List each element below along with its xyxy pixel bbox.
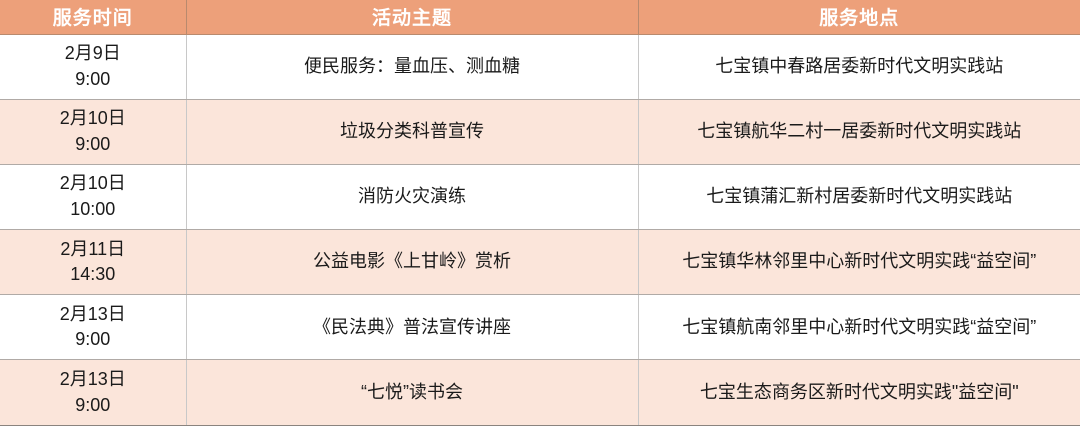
cell-service-time: 2月13日 9:00: [0, 295, 186, 360]
table-row: 2月10日 9:00 垃圾分类科普宣传 七宝镇航华二村一居委新时代文明实践站: [0, 99, 1080, 164]
column-header-service-location: 服务地点: [638, 0, 1080, 34]
column-header-service-time: 服务时间: [0, 0, 186, 34]
table-row: 2月10日 10:00 消防火灾演练 七宝镇蒲汇新村居委新时代文明实践站: [0, 164, 1080, 229]
service-date: 2月13日: [6, 367, 180, 393]
table-row: 2月13日 9:00 《民法典》普法宣传讲座 七宝镇航南邻里中心新时代文明实践“…: [0, 295, 1080, 360]
table-row: 2月11日 14:30 公益电影《上甘岭》赏析 七宝镇华林邻里中心新时代文明实践…: [0, 230, 1080, 295]
cell-service-time: 2月13日 9:00: [0, 360, 186, 425]
cell-service-time: 2月9日 9:00: [0, 34, 186, 99]
service-time: 9:00: [6, 327, 180, 353]
table-body: 2月9日 9:00 便民服务：量血压、测血糖 七宝镇中春路居委新时代文明实践站 …: [0, 34, 1080, 425]
cell-service-location: 七宝镇航华二村一居委新时代文明实践站: [638, 99, 1080, 164]
service-date: 2月13日: [6, 302, 180, 328]
cell-activity-theme: “七悦”读书会: [186, 360, 638, 425]
service-date: 2月11日: [6, 237, 180, 263]
cell-activity-theme: 消防火灾演练: [186, 164, 638, 229]
service-time: 9:00: [6, 67, 180, 93]
cell-service-location: 七宝镇中春路居委新时代文明实践站: [638, 34, 1080, 99]
table-row: 2月9日 9:00 便民服务：量血压、测血糖 七宝镇中春路居委新时代文明实践站: [0, 34, 1080, 99]
cell-service-time: 2月10日 10:00: [0, 164, 186, 229]
cell-service-location: 七宝镇华林邻里中心新时代文明实践“益空间”: [638, 230, 1080, 295]
table-header: 服务时间 活动主题 服务地点: [0, 0, 1080, 34]
column-header-activity-theme: 活动主题: [186, 0, 638, 34]
table-header-row: 服务时间 活动主题 服务地点: [0, 0, 1080, 34]
service-schedule-table: 服务时间 活动主题 服务地点 2月9日 9:00 便民服务：量血压、测血糖 七宝…: [0, 0, 1080, 426]
cell-activity-theme: 公益电影《上甘岭》赏析: [186, 230, 638, 295]
cell-activity-theme: 垃圾分类科普宣传: [186, 99, 638, 164]
service-time: 14:30: [6, 262, 180, 288]
cell-activity-theme: 《民法典》普法宣传讲座: [186, 295, 638, 360]
cell-service-time: 2月11日 14:30: [0, 230, 186, 295]
service-time: 9:00: [6, 393, 180, 419]
service-date: 2月10日: [6, 171, 180, 197]
cell-service-location: 七宝镇航南邻里中心新时代文明实践“益空间”: [638, 295, 1080, 360]
cell-activity-theme: 便民服务：量血压、测血糖: [186, 34, 638, 99]
service-date: 2月9日: [6, 41, 180, 67]
cell-service-time: 2月10日 9:00: [0, 99, 186, 164]
service-date: 2月10日: [6, 106, 180, 132]
service-time: 10:00: [6, 197, 180, 223]
cell-service-location: 七宝生态商务区新时代文明实践"益空间": [638, 360, 1080, 425]
cell-service-location: 七宝镇蒲汇新村居委新时代文明实践站: [638, 164, 1080, 229]
table-row: 2月13日 9:00 “七悦”读书会 七宝生态商务区新时代文明实践"益空间": [0, 360, 1080, 425]
service-time: 9:00: [6, 132, 180, 158]
